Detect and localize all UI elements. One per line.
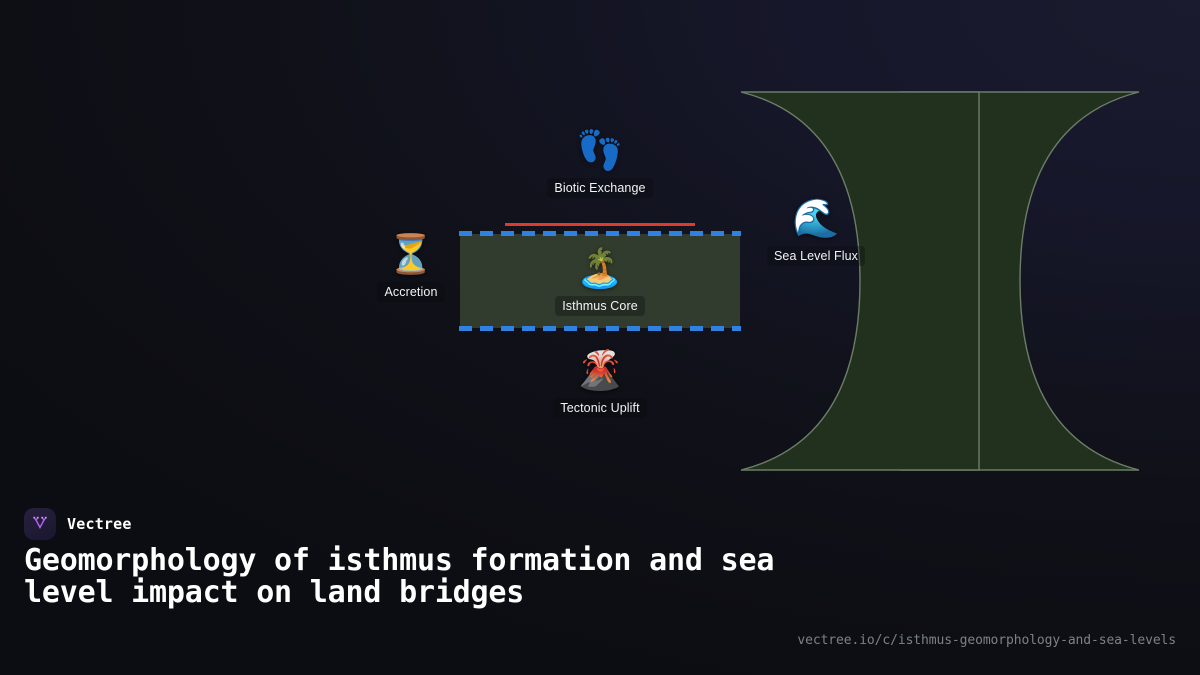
volcano-icon: 🌋 bbox=[576, 348, 623, 394]
footprints-icon: 👣 bbox=[576, 128, 623, 174]
wave-icon: 🌊 bbox=[792, 196, 839, 242]
footer-url: vectree.io/c/isthmus-geomorphology-and-s… bbox=[797, 633, 1176, 648]
vectree-logo-icon bbox=[24, 508, 56, 540]
island-icon: 🏝️ bbox=[576, 246, 623, 292]
node-label: Tectonic Uplift bbox=[553, 398, 646, 418]
node-isthmus-core[interactable]: 🏝️ Isthmus Core bbox=[515, 246, 685, 316]
sea-level-line-top bbox=[459, 231, 741, 236]
brand-name: Vectree bbox=[67, 515, 132, 533]
node-label: Sea Level Flux bbox=[767, 246, 865, 266]
node-tectonic-uplift[interactable]: 🌋 Tectonic Uplift bbox=[515, 348, 685, 418]
sea-level-line-bottom bbox=[459, 326, 741, 331]
biotic-barrier-line bbox=[505, 223, 695, 226]
node-label: Biotic Exchange bbox=[547, 178, 652, 198]
page-title: Geomorphology of isthmus formation and s… bbox=[24, 545, 844, 609]
node-biotic-exchange[interactable]: 👣 Biotic Exchange bbox=[515, 128, 685, 198]
node-sea-level-flux[interactable]: 🌊 Sea Level Flux bbox=[731, 196, 901, 266]
node-label: Isthmus Core bbox=[555, 296, 645, 316]
node-label: Accretion bbox=[377, 282, 444, 302]
hourglass-icon: ⏳ bbox=[387, 232, 434, 278]
diagram-canvas: 👣 Biotic Exchange 🏝️ Isthmus Core 🌋 Tect… bbox=[0, 0, 1200, 495]
footer: Vectree Geomorphology of isthmus formati… bbox=[0, 495, 1200, 675]
node-accretion[interactable]: ⏳ Accretion bbox=[326, 232, 496, 302]
right-landmass[interactable] bbox=[741, 92, 979, 470]
brand-row[interactable]: Vectree bbox=[24, 508, 132, 540]
